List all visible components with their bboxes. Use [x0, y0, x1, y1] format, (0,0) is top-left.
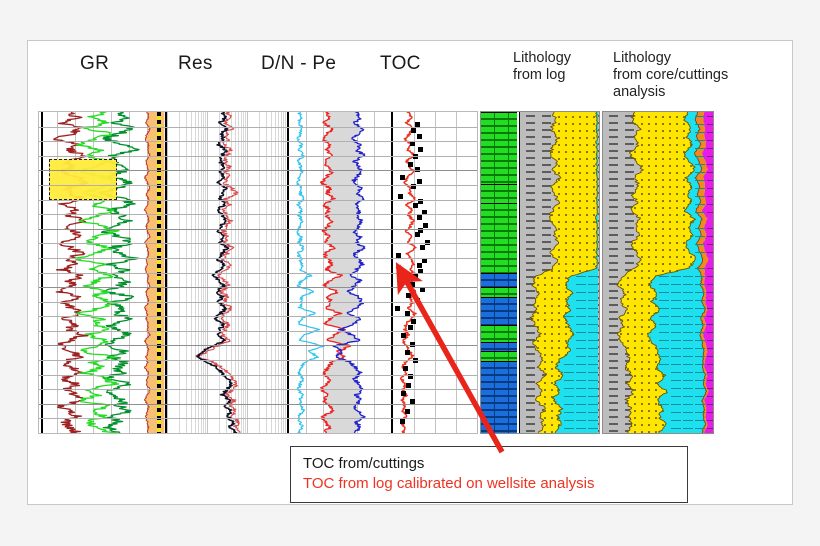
track-header-res: Res: [178, 53, 213, 75]
limestone-pattern: [695, 396, 705, 397]
sand-pattern: [655, 221, 657, 223]
sand-pattern: [544, 305, 546, 307]
limestone-pattern: [695, 428, 705, 429]
sand-pattern: [690, 186, 692, 188]
limestone-pattern: [695, 324, 705, 325]
sand-pattern: [558, 186, 560, 188]
sand-pattern: [648, 340, 650, 342]
limestone-pattern: [695, 172, 705, 173]
sand-pattern: [558, 277, 560, 279]
gridline-h: [39, 200, 477, 201]
sand-pattern: [641, 284, 643, 286]
sand-pattern: [634, 424, 636, 426]
sand-pattern: [551, 151, 553, 153]
sand-pattern: [565, 137, 567, 139]
sand-pattern: [683, 263, 685, 265]
toc-cuttings-point: [408, 325, 413, 330]
anhydrite-pattern: [707, 420, 714, 421]
sand-pattern: [641, 151, 643, 153]
sand-pattern: [593, 158, 595, 160]
limestone-pattern: [659, 332, 669, 333]
limestone-pattern: [576, 276, 586, 277]
sand-pattern: [627, 319, 629, 321]
limestone-pattern: [695, 300, 705, 301]
sand-pattern: [558, 249, 560, 251]
sand-pattern: [593, 123, 595, 125]
sand-pattern: [627, 333, 629, 335]
sand-pattern: [579, 221, 581, 223]
anhydrite-pattern: [707, 388, 714, 389]
sand-pattern: [579, 123, 581, 125]
sand-pattern: [690, 256, 692, 258]
sand-pattern: [593, 165, 595, 167]
sand-pattern: [648, 228, 650, 230]
sand-pattern: [662, 214, 664, 216]
anhydrite-pattern: [707, 244, 714, 245]
sand-pattern: [669, 137, 671, 139]
sand-pattern: [662, 186, 664, 188]
sand-pattern: [586, 165, 588, 167]
toc-cuttings-point: [395, 306, 400, 311]
limestone-pattern: [576, 372, 586, 373]
toc-cuttings-point: [417, 134, 422, 139]
sand-pattern: [648, 326, 650, 328]
sand-pattern: [648, 347, 650, 349]
sand-pattern: [648, 291, 650, 293]
sand-pattern: [690, 200, 692, 202]
anhydrite-pattern: [707, 364, 714, 365]
sand-pattern: [634, 270, 636, 272]
limestone-pattern: [671, 324, 681, 325]
sand-pattern: [565, 193, 567, 195]
sand-pattern: [655, 361, 657, 363]
limestone-pattern: [671, 420, 681, 421]
sand-pattern: [641, 347, 643, 349]
sand-pattern: [634, 326, 636, 328]
sand-pattern: [676, 179, 678, 181]
toc-cuttings-point: [405, 409, 410, 414]
limestone-pattern: [683, 284, 693, 285]
limestone-pattern: [564, 380, 574, 381]
sand-pattern: [669, 200, 671, 202]
sand-pattern: [683, 193, 685, 195]
limestone-pattern: [588, 276, 598, 277]
sand-pattern: [558, 151, 560, 153]
sand-pattern: [648, 200, 650, 202]
sand-pattern: [551, 319, 553, 321]
limestone-pattern: [576, 364, 586, 365]
gridline-h: [39, 258, 477, 259]
limestone-pattern: [659, 292, 669, 293]
sand-pattern: [648, 179, 650, 181]
sand-pattern: [579, 165, 581, 167]
sand-pattern: [634, 361, 636, 363]
limestone-pattern: [695, 412, 705, 413]
limestone-pattern: [659, 324, 669, 325]
lith-log-bed: [481, 203, 517, 273]
sand-pattern: [551, 305, 553, 307]
lith-core-line3: analysis: [613, 84, 728, 101]
sand-pattern: [551, 354, 553, 356]
sand-pattern: [655, 410, 657, 412]
toc-cuttings-point: [417, 215, 422, 220]
sand-pattern: [648, 368, 650, 370]
toc-cuttings-point: [417, 179, 422, 184]
sand-pattern: [648, 144, 650, 146]
gridline-h: [39, 404, 477, 405]
sand-pattern: [558, 144, 560, 146]
sand-pattern: [641, 375, 643, 377]
sand-pattern: [655, 130, 657, 132]
anhydrite-pattern: [707, 396, 714, 397]
sand-pattern: [544, 382, 546, 384]
toc-cuttings-point: [398, 194, 403, 199]
limestone-pattern: [576, 412, 586, 413]
sand-pattern: [634, 312, 636, 314]
limestone-pattern: [683, 364, 693, 365]
sand-pattern: [690, 263, 692, 265]
gr-highlight-box: [49, 159, 117, 201]
sand-pattern: [593, 179, 595, 181]
limestone-pattern: [576, 292, 586, 293]
toc-cuttings-point: [420, 245, 425, 250]
limestone-pattern: [576, 404, 586, 405]
gridline-h: [39, 273, 477, 274]
sand-pattern: [579, 158, 581, 160]
limestone-pattern: [588, 428, 598, 429]
anhydrite-pattern: [707, 332, 714, 333]
sand-pattern: [641, 137, 643, 139]
sand-pattern: [572, 116, 574, 118]
limestone-pattern: [588, 284, 598, 285]
sand-pattern: [662, 242, 664, 244]
sand-pattern: [565, 340, 567, 342]
sand-pattern: [593, 172, 595, 174]
sand-pattern: [572, 151, 574, 153]
sand-pattern: [551, 382, 553, 384]
limestone-pattern: [576, 380, 586, 381]
limestone-pattern: [659, 284, 669, 285]
sand-pattern: [634, 277, 636, 279]
sand-pattern: [537, 291, 539, 293]
sand-pattern: [558, 340, 560, 342]
sand-pattern: [565, 305, 567, 307]
sand-pattern: [648, 361, 650, 363]
sand-pattern: [641, 249, 643, 251]
lithology-column-from-core: [602, 111, 714, 434]
limestone-pattern: [588, 356, 598, 357]
sand-pattern: [565, 256, 567, 258]
sand-pattern: [676, 228, 678, 230]
sand-pattern: [593, 193, 595, 195]
sand-pattern: [565, 270, 567, 272]
anhydrite-pattern: [707, 156, 714, 157]
sand-pattern: [655, 235, 657, 237]
sand-pattern: [669, 130, 671, 132]
anhydrite-pattern: [707, 292, 714, 293]
limestone-pattern: [671, 292, 681, 293]
limestone-pattern: [671, 316, 681, 317]
sand-pattern: [572, 179, 574, 181]
sand-pattern: [669, 179, 671, 181]
sand-pattern: [544, 403, 546, 405]
sand-pattern: [579, 151, 581, 153]
sand-pattern: [634, 354, 636, 356]
sand-pattern: [544, 291, 546, 293]
sand-pattern: [690, 235, 692, 237]
anhydrite-pattern: [707, 148, 714, 149]
sand-pattern: [648, 116, 650, 118]
sand-pattern: [565, 144, 567, 146]
sand-pattern: [669, 116, 671, 118]
limestone-pattern: [695, 420, 705, 421]
limestone-pattern: [588, 380, 598, 381]
sand-pattern: [641, 235, 643, 237]
gridline-h: [39, 243, 477, 244]
limestone-pattern: [588, 412, 598, 413]
sand-pattern: [662, 424, 664, 426]
anhydrite-pattern: [707, 172, 714, 173]
sand-pattern: [579, 144, 581, 146]
sand-pattern: [565, 333, 567, 335]
sand-pattern: [537, 284, 539, 286]
sand-pattern: [558, 417, 560, 419]
sand-pattern: [669, 207, 671, 209]
limestone-pattern: [659, 300, 669, 301]
sand-pattern: [627, 291, 629, 293]
sand-pattern: [586, 116, 588, 118]
sand-pattern: [593, 186, 595, 188]
sand-pattern: [648, 424, 650, 426]
sand-pattern: [593, 256, 595, 258]
anhydrite-pattern: [707, 236, 714, 237]
sand-pattern: [641, 340, 643, 342]
sand-pattern: [683, 158, 685, 160]
sand-pattern: [627, 305, 629, 307]
sand-pattern: [683, 242, 685, 244]
sand-pattern: [593, 214, 595, 216]
sand-pattern: [676, 242, 678, 244]
sand-pattern: [655, 242, 657, 244]
lith-log-line2: from log: [513, 67, 571, 84]
sand-pattern: [648, 298, 650, 300]
limestone-pattern: [659, 316, 669, 317]
sand-pattern: [586, 186, 588, 188]
toc-cuttings-point: [417, 263, 422, 268]
sand-pattern: [690, 172, 692, 174]
sand-pattern: [551, 403, 553, 405]
sand-pattern: [676, 116, 678, 118]
sand-pattern: [579, 207, 581, 209]
sand-pattern: [683, 130, 685, 132]
limestone-pattern: [695, 132, 705, 133]
sand-pattern: [655, 382, 657, 384]
limestone-pattern: [695, 276, 705, 277]
toc-cuttings-point: [400, 175, 405, 180]
sand-pattern: [565, 277, 567, 279]
lithology-column-from-log: [480, 111, 600, 434]
sand-pattern: [558, 284, 560, 286]
sand-pattern: [544, 277, 546, 279]
anhydrite-pattern: [707, 116, 714, 117]
sand-pattern: [558, 123, 560, 125]
sand-pattern: [551, 375, 553, 377]
sand-pattern: [544, 431, 546, 433]
sand-pattern: [655, 396, 657, 398]
sand-pattern: [641, 256, 643, 258]
sand-pattern: [648, 158, 650, 160]
limestone-pattern: [588, 348, 598, 349]
limestone-pattern: [695, 148, 705, 149]
sand-pattern: [558, 312, 560, 314]
anhydrite-pattern: [707, 228, 714, 229]
sand-pattern: [683, 235, 685, 237]
sand-pattern: [662, 151, 664, 153]
sand-pattern: [655, 123, 657, 125]
sand-pattern: [572, 186, 574, 188]
sand-pattern: [655, 137, 657, 139]
gridline-h: [39, 287, 477, 288]
sand-pattern: [641, 396, 643, 398]
sand-pattern: [586, 151, 588, 153]
limestone-pattern: [695, 196, 705, 197]
sand-pattern: [572, 165, 574, 167]
anhydrite-pattern: [707, 412, 714, 413]
sand-pattern: [662, 410, 664, 412]
sand-pattern: [565, 214, 567, 216]
sand-pattern: [620, 319, 622, 321]
sand-pattern: [586, 235, 588, 237]
lith-core-line1: Lithology: [613, 50, 728, 67]
sand-pattern: [544, 312, 546, 314]
sand-pattern: [648, 382, 650, 384]
sand-pattern: [648, 375, 650, 377]
limestone-pattern: [588, 308, 598, 309]
sand-pattern: [683, 144, 685, 146]
legend-line-cuttings: TOC from/cuttings: [303, 454, 677, 474]
sand-pattern: [551, 214, 553, 216]
toc-cuttings-point: [411, 319, 416, 324]
legend-line-log: TOC from log calibrated on wellsite anal…: [303, 474, 677, 494]
sand-pattern: [662, 235, 664, 237]
sand-pattern: [648, 284, 650, 286]
sand-pattern: [544, 417, 546, 419]
sand-pattern: [558, 214, 560, 216]
sand-pattern: [634, 382, 636, 384]
limestone-pattern: [671, 356, 681, 357]
limestone-pattern: [683, 420, 693, 421]
sand-pattern: [586, 193, 588, 195]
anhydrite-pattern: [707, 340, 714, 341]
sand-pattern: [572, 270, 574, 272]
sand-pattern: [669, 221, 671, 223]
limestone-pattern: [576, 356, 586, 357]
sand-pattern: [565, 158, 567, 160]
toc-cuttings-point: [401, 333, 406, 338]
sand-pattern: [655, 368, 657, 370]
sand-pattern: [565, 116, 567, 118]
sand-pattern: [662, 123, 664, 125]
sand-pattern: [579, 214, 581, 216]
limestone-pattern: [683, 396, 693, 397]
sand-pattern: [551, 270, 553, 272]
sand-pattern: [662, 249, 664, 251]
sand-pattern: [641, 326, 643, 328]
limestone-pattern: [588, 372, 598, 373]
toc-cuttings-point: [401, 391, 406, 396]
sand-pattern: [544, 284, 546, 286]
sand-pattern: [627, 284, 629, 286]
sand-pattern: [620, 284, 622, 286]
sand-pattern: [558, 137, 560, 139]
anhydrite-pattern: [707, 268, 714, 269]
limestone-pattern: [671, 300, 681, 301]
anhydrite-pattern: [707, 164, 714, 165]
anhydrite-pattern: [707, 380, 714, 381]
gridline-h: [39, 170, 477, 171]
sand-pattern: [572, 144, 574, 146]
sand-pattern: [641, 361, 643, 363]
anhydrite-pattern: [707, 324, 714, 325]
lith-log-bed: [481, 184, 517, 204]
sand-pattern: [655, 375, 657, 377]
anhydrite-pattern: [707, 252, 714, 253]
lithology-log-header: Lithology from log: [513, 50, 571, 84]
sand-pattern: [641, 186, 643, 188]
sand-pattern: [537, 305, 539, 307]
limestone-pattern: [695, 364, 705, 365]
sand-pattern: [572, 333, 574, 335]
sand-pattern: [634, 431, 636, 433]
sand-pattern: [648, 214, 650, 216]
sand-pattern: [669, 186, 671, 188]
sand-pattern: [593, 144, 595, 146]
toc-cuttings-point: [415, 232, 420, 237]
sand-pattern: [558, 298, 560, 300]
sand-pattern: [683, 137, 685, 139]
sand-pattern: [641, 319, 643, 321]
limestone-pattern: [588, 364, 598, 365]
gridline-h: [39, 389, 477, 390]
limestone-pattern: [576, 428, 586, 429]
sand-pattern: [648, 249, 650, 251]
sand-pattern: [544, 389, 546, 391]
sand-pattern: [551, 410, 553, 412]
sand-pattern: [683, 123, 685, 125]
sand-pattern: [627, 368, 629, 370]
track-header-dnpe: D/N - Pe: [261, 53, 336, 75]
sand-pattern: [634, 305, 636, 307]
limestone-pattern: [683, 348, 693, 349]
sand-pattern: [676, 123, 678, 125]
sand-pattern: [572, 249, 574, 251]
limestone-pattern: [695, 356, 705, 357]
sand-pattern: [683, 165, 685, 167]
sand-pattern: [565, 319, 567, 321]
anhydrite-pattern: [707, 356, 714, 357]
limestone-pattern: [671, 396, 681, 397]
sand-pattern: [648, 137, 650, 139]
limestone-pattern: [659, 356, 669, 357]
sand-pattern: [551, 298, 553, 300]
sand-pattern: [558, 256, 560, 258]
sand-pattern: [565, 249, 567, 251]
sand-pattern: [655, 228, 657, 230]
sand-pattern: [627, 326, 629, 328]
gridline-h: [39, 141, 477, 142]
sand-pattern: [669, 144, 671, 146]
toc-cuttings-point: [411, 128, 416, 133]
